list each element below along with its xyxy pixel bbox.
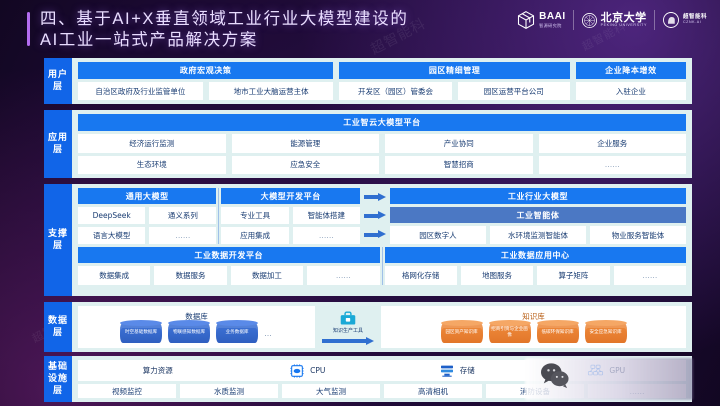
layer-body-support: 通用大模型 DeepSeek 通义系列 语言大模型 …… 大模型开发平台: [72, 184, 692, 296]
cube-icon: [516, 10, 536, 30]
support-group-general-llm: 通用大模型 DeepSeek 通义系列 语言大模型 ……: [78, 188, 216, 244]
kb-cylinder-label: 低碳环保知识库: [539, 330, 575, 336]
support-cell-bl-4[interactable]: ……: [307, 266, 379, 285]
infra-device-water[interactable]: 水质监测: [180, 384, 278, 398]
pku-logo-en: PEKING UNIVERSITY: [601, 24, 647, 28]
head-profile-icon: [662, 11, 680, 29]
knowledge-tool-label: 知识生产工具: [333, 327, 363, 334]
support-cell-dev-1[interactable]: 专业工具: [221, 207, 288, 224]
support-cell-dev-2[interactable]: 智能体搭建: [293, 207, 360, 224]
cznk-logo-en: CZNK.AI: [683, 21, 707, 25]
user-cell-gov-2[interactable]: 地市工业大脑运营主体: [209, 82, 334, 100]
cpu-chip-icon: [289, 363, 305, 379]
slide-canvas: 超智能科 超智能科 超智能科 超智能科 超智能科 四、基于AI+X垂直领域工业行…: [0, 0, 720, 406]
db-cylinder-label: 业务数据库: [224, 330, 251, 336]
layer-label-support: 支撑层: [44, 184, 72, 296]
layer-application: 应用层 工业智云大模型平台 经济运行监测 能源管理 产业协同 企业服务 生态环境…: [44, 110, 692, 178]
app-cell-r2-1[interactable]: 生态环境: [78, 156, 226, 175]
infra-item-label: GPU: [609, 366, 625, 375]
layer-label-infrastructure: 基础设施层: [44, 356, 72, 402]
db-cylinder-iot[interactable]: 物联感知数据库: [168, 323, 210, 343]
database-panel: 数据库 时空基础数据库 物联感知数据库 业务数据库 …: [78, 306, 315, 348]
right-arrow-icon: [322, 337, 374, 345]
support-group-data-appcenter: 工业数据应用中心 格网化存储 地图服务 算子矩阵 ……: [385, 247, 687, 285]
support-cell-br-4[interactable]: ……: [614, 266, 686, 285]
gpu-cluster-icon: [587, 363, 604, 379]
slide-header: 四、基于AI+X垂直领域工业行业大模型建设的 AI工业一站式产品解决方案 BAA…: [0, 0, 720, 54]
right-arrow-icon: [364, 211, 386, 220]
infra-item-label: 存储: [460, 365, 475, 376]
support-cell-br-1[interactable]: 格网化存储: [385, 266, 457, 285]
cznk-logo: 超智能科 CZNK.AI: [655, 7, 714, 33]
title-accent-bar: [27, 12, 30, 46]
db-cylinder-label: 时空基础数据库: [123, 330, 159, 336]
infra-device-camera[interactable]: 高清相机: [384, 384, 482, 398]
kb-cylinder-label: 园区资产知识库: [443, 330, 479, 336]
user-cell-park-1[interactable]: 开发区（园区）管委会: [339, 82, 451, 100]
toolbox-icon: [339, 310, 357, 326]
infra-item-label: 算力资源: [143, 365, 173, 376]
user-cell-gov-1[interactable]: 自治区政府及行业监管单位: [78, 82, 203, 100]
user-band-enterprise[interactable]: 企业降本增效: [576, 62, 686, 79]
support-cell-br-2[interactable]: 地图服务: [461, 266, 533, 285]
support-group-dev-platform: 大模型开发平台 专业工具 智能体搭建 应用集成 ……: [221, 188, 359, 244]
baai-logo-main: BAAI: [539, 12, 565, 22]
infra-resources-row: 算力资源 CPU: [78, 360, 686, 381]
support-band-general-llm[interactable]: 通用大模型: [78, 188, 216, 204]
user-band-park[interactable]: 园区精细管理: [339, 62, 569, 79]
layer-body-data: 数据库 时空基础数据库 物联感知数据库 业务数据库 … 知识生: [72, 302, 692, 352]
page-title-line1: 四、基于AI+X垂直领域工业行业大模型建设的: [40, 9, 510, 30]
support-cell-general-2[interactable]: 通义系列: [149, 207, 216, 224]
support-band-industry-llm[interactable]: 工业行业大模型: [390, 188, 686, 204]
db-cylinder-spatial[interactable]: 时空基础数据库: [120, 323, 162, 343]
support-band-industry-agent[interactable]: 工业智能体: [390, 207, 686, 223]
pku-logo-cn: 北京大学: [601, 12, 647, 23]
support-cell-agent-3[interactable]: 物业服务智能体: [590, 226, 686, 244]
support-cell-br-3[interactable]: 算子矩阵: [537, 266, 609, 285]
support-cell-agent-2[interactable]: 水环境监测智能体: [490, 226, 586, 244]
right-arrow-icon: [364, 230, 386, 239]
support-cell-dev-3[interactable]: 应用集成: [221, 227, 288, 244]
kb-cylinder-lowcarbon[interactable]: 低碳环保知识库: [537, 323, 579, 343]
support-group-data-devplat: 工业数据开发平台 数据集成 数据服务 数据加工 ……: [78, 247, 380, 285]
infra-item-label: CPU: [310, 366, 325, 375]
layer-label-application: 应用层: [44, 110, 72, 178]
support-cell-general-4[interactable]: ……: [149, 227, 216, 244]
kb-cylinder-safety[interactable]: 安全应急知识库: [585, 323, 627, 343]
user-group-enterprise: 企业降本增效 入驻企业: [576, 62, 686, 100]
layer-infrastructure: 基础设施层 算力资源 CPU: [44, 356, 692, 402]
infra-item-compute[interactable]: 算力资源: [86, 365, 230, 376]
storage-server-icon: [439, 363, 455, 379]
support-band-dev-platform[interactable]: 大模型开发平台: [221, 188, 359, 204]
user-cell-ent-1[interactable]: 入驻企业: [576, 82, 686, 100]
app-cell-r1-2[interactable]: 能源管理: [232, 134, 380, 153]
knowledge-base-panel: 知识库 园区资产知识库 招商引资与企业画像 低碳环保知识库 安全应急知识库: [381, 306, 686, 348]
user-cell-park-2[interactable]: 园区运营平台公司: [458, 82, 570, 100]
kb-cylinder-label: 安全应急知识库: [587, 330, 623, 336]
layer-body-user: 政府宏观决策 自治区政府及行业监管单位 地市工业大脑运营主体 园区精细管理 开发…: [72, 58, 692, 104]
infra-item-storage[interactable]: 存储: [385, 363, 529, 379]
support-arrow-column: [360, 188, 390, 244]
pku-logo-text: 北京大学 PEKING UNIVERSITY: [601, 12, 647, 28]
pku-logo: 北京大学 PEKING UNIVERSITY: [574, 7, 654, 33]
baai-logo: BAAI 智源研究院: [509, 7, 572, 33]
user-group-park: 园区精细管理 开发区（园区）管委会 园区运营平台公司: [339, 62, 569, 100]
infra-device-air[interactable]: 大气监测: [282, 384, 380, 398]
support-cell-agent-1[interactable]: 园区数字人: [390, 226, 486, 244]
kb-cylinder-assets[interactable]: 园区资产知识库: [441, 323, 483, 343]
layer-body-application: 工业智云大模型平台 经济运行监测 能源管理 产业协同 企业服务 生态环境 应急安…: [72, 110, 692, 178]
support-band-data-devplat[interactable]: 工业数据开发平台: [78, 247, 380, 263]
support-cell-bl-1[interactable]: 数据集成: [78, 266, 150, 285]
support-cell-bl-2[interactable]: 数据服务: [154, 266, 226, 285]
support-cell-general-1[interactable]: DeepSeek: [78, 207, 145, 224]
infra-device-more[interactable]: ……: [588, 384, 686, 398]
app-band-platform[interactable]: 工业智云大模型平台: [78, 114, 686, 131]
layer-data: 数据层 数据库 时空基础数据库 物联感知数据库 业务数据库 …: [44, 302, 692, 352]
app-cell-r2-4[interactable]: ……: [539, 156, 687, 175]
cznk-logo-text: 超智能科 CZNK.AI: [683, 15, 707, 25]
support-cell-bl-3[interactable]: 数据加工: [231, 266, 303, 285]
infra-device-fire[interactable]: 消防设备: [486, 384, 584, 398]
baai-logo-sub: 智源研究院: [539, 24, 565, 28]
db-cylinder-business[interactable]: 业务数据库: [216, 323, 258, 343]
infra-device-video[interactable]: 视频监控: [78, 384, 176, 398]
support-divider: [382, 247, 383, 285]
layer-body-infrastructure: 算力资源 CPU: [72, 356, 692, 402]
support-group-industry: 工业行业大模型 工业智能体 园区数字人 水环境监测智能体 物业服务智能体: [390, 188, 686, 244]
app-cell-r1-3[interactable]: 产业协同: [385, 134, 533, 153]
page-title: 四、基于AI+X垂直领域工业行业大模型建设的 AI工业一站式产品解决方案: [40, 9, 510, 51]
page-title-line2: AI工业一站式产品解决方案: [40, 30, 510, 51]
layer-label-data: 数据层: [44, 302, 72, 352]
user-band-government[interactable]: 政府宏观决策: [78, 62, 333, 79]
layer-support: 支撑层 通用大模型 DeepSeek 通义系列 语言大模型 ……: [44, 184, 692, 296]
support-cell-dev-4[interactable]: ……: [293, 227, 360, 244]
app-cell-r2-2[interactable]: 应急安全: [232, 156, 380, 175]
support-divider: [218, 188, 219, 244]
infra-item-cpu[interactable]: CPU: [236, 363, 380, 379]
knowledge-cylinder-list: 园区资产知识库 招商引资与企业画像 低碳环保知识库 安全应急知识库: [441, 323, 627, 343]
logo-group: BAAI 智源研究院 北京大学 PEKING UNIVERSITY: [509, 6, 714, 34]
support-band-data-appcenter[interactable]: 工业数据应用中心: [385, 247, 687, 263]
app-cell-r1-4[interactable]: 企业服务: [539, 134, 687, 153]
db-more-ellipsis: …: [264, 329, 273, 338]
pku-seal-icon: [581, 12, 598, 29]
layer-user: 用户层 政府宏观决策 自治区政府及行业监管单位 地市工业大脑运营主体 园区精细管…: [44, 58, 692, 104]
app-cell-r2-3[interactable]: 智慧招商: [385, 156, 533, 175]
db-cylinder-label: 物联感知数据库: [171, 330, 207, 336]
kb-cylinder-investment[interactable]: 招商引资与企业画像: [489, 323, 531, 343]
app-cell-r1-1[interactable]: 经济运行监测: [78, 134, 226, 153]
kb-cylinder-label: 招商引资与企业画像: [489, 327, 531, 338]
baai-logo-text: BAAI 智源研究院: [539, 12, 565, 28]
database-cylinder-list: 时空基础数据库 物联感知数据库 业务数据库 …: [120, 323, 273, 343]
user-group-government: 政府宏观决策 自治区政府及行业监管单位 地市工业大脑运营主体: [78, 62, 333, 100]
infra-item-gpu[interactable]: GPU: [535, 363, 679, 379]
layer-label-user: 用户层: [44, 58, 72, 104]
right-arrow-icon: [364, 193, 386, 202]
knowledge-tool-block: 知识生产工具: [315, 306, 381, 348]
support-cell-general-3[interactable]: 语言大模型: [78, 227, 145, 244]
